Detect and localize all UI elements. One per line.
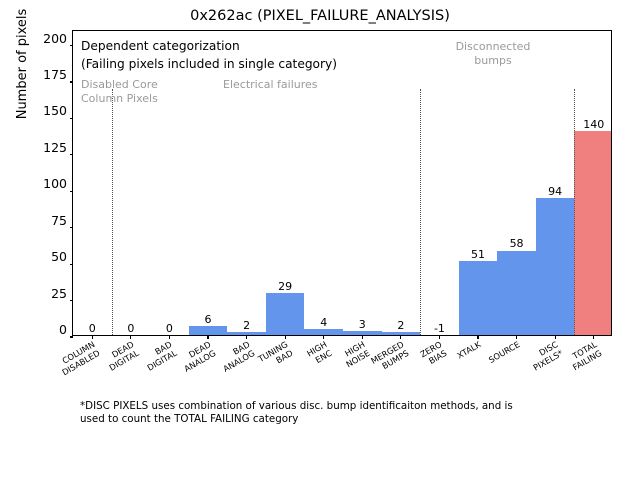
x-tick-mark bbox=[285, 335, 286, 339]
x-tick-mark bbox=[439, 335, 440, 339]
y-tick-mark bbox=[70, 336, 74, 337]
x-tick-mark bbox=[555, 335, 556, 339]
bar-value-label: 140 bbox=[574, 118, 613, 131]
bar[interactable] bbox=[382, 332, 421, 335]
bar-value-label: 3 bbox=[343, 318, 382, 331]
bar-value-label: 6 bbox=[189, 313, 228, 326]
bar-value-label: 58 bbox=[497, 237, 536, 250]
bar-value-label: 0 bbox=[73, 322, 112, 335]
x-tick-mark bbox=[92, 335, 93, 339]
bar-value-label: 0 bbox=[112, 322, 151, 335]
bar-value-label: 94 bbox=[536, 185, 575, 198]
y-axis-label: Number of pixels bbox=[15, 0, 30, 214]
x-tick-mark bbox=[207, 335, 208, 339]
bar[interactable] bbox=[459, 261, 498, 335]
divider-after-zero-bias bbox=[420, 89, 421, 335]
bar[interactable] bbox=[189, 326, 228, 335]
bar[interactable] bbox=[304, 329, 343, 335]
chart-title: 0x262ac (PIXEL_FAILURE_ANALYSIS) bbox=[0, 8, 640, 24]
bar[interactable] bbox=[497, 251, 536, 336]
pixel-failure-analysis-figure: 0x262ac (PIXEL_FAILURE_ANALYSIS) Number … bbox=[0, 0, 640, 480]
x-tick-mark bbox=[130, 335, 131, 339]
bar-value-label: 0 bbox=[150, 322, 189, 335]
group-disconnected-bumps: Disconnected bumps bbox=[428, 40, 558, 67]
x-tick-mark bbox=[169, 335, 170, 339]
plot-area: Number of pixels 0255075100125150175200 … bbox=[72, 30, 612, 336]
group-disabled-core-column-pixels: Disabled Core Column Pixels bbox=[81, 78, 158, 105]
bar-value-label: 4 bbox=[304, 316, 343, 329]
bar[interactable] bbox=[266, 293, 305, 335]
footnote: *DISC PIXELS uses combination of various… bbox=[80, 400, 600, 426]
bar[interactable] bbox=[343, 331, 382, 335]
bar-value-label: -1 bbox=[420, 322, 459, 335]
plot-inner: Dependent categorization(Failing pixels … bbox=[73, 31, 611, 335]
x-tick-mark bbox=[400, 335, 401, 339]
bar[interactable] bbox=[536, 198, 575, 335]
bar[interactable] bbox=[227, 332, 266, 335]
failing-pixels-note: (Failing pixels included in single categ… bbox=[81, 57, 337, 73]
x-tick-mark bbox=[477, 335, 478, 339]
dependent-categorization-note: Dependent categorization bbox=[81, 39, 240, 55]
bar[interactable] bbox=[574, 131, 611, 335]
bar-value-label: 51 bbox=[459, 248, 498, 261]
bar-value-label: 2 bbox=[227, 319, 266, 332]
x-tick-mark bbox=[362, 335, 363, 339]
bar-value-label: 2 bbox=[382, 319, 421, 332]
group-electrical-failures: Electrical failures bbox=[223, 78, 318, 92]
divider-after-column-disabled bbox=[112, 89, 113, 335]
bar-value-label: 29 bbox=[266, 280, 305, 293]
